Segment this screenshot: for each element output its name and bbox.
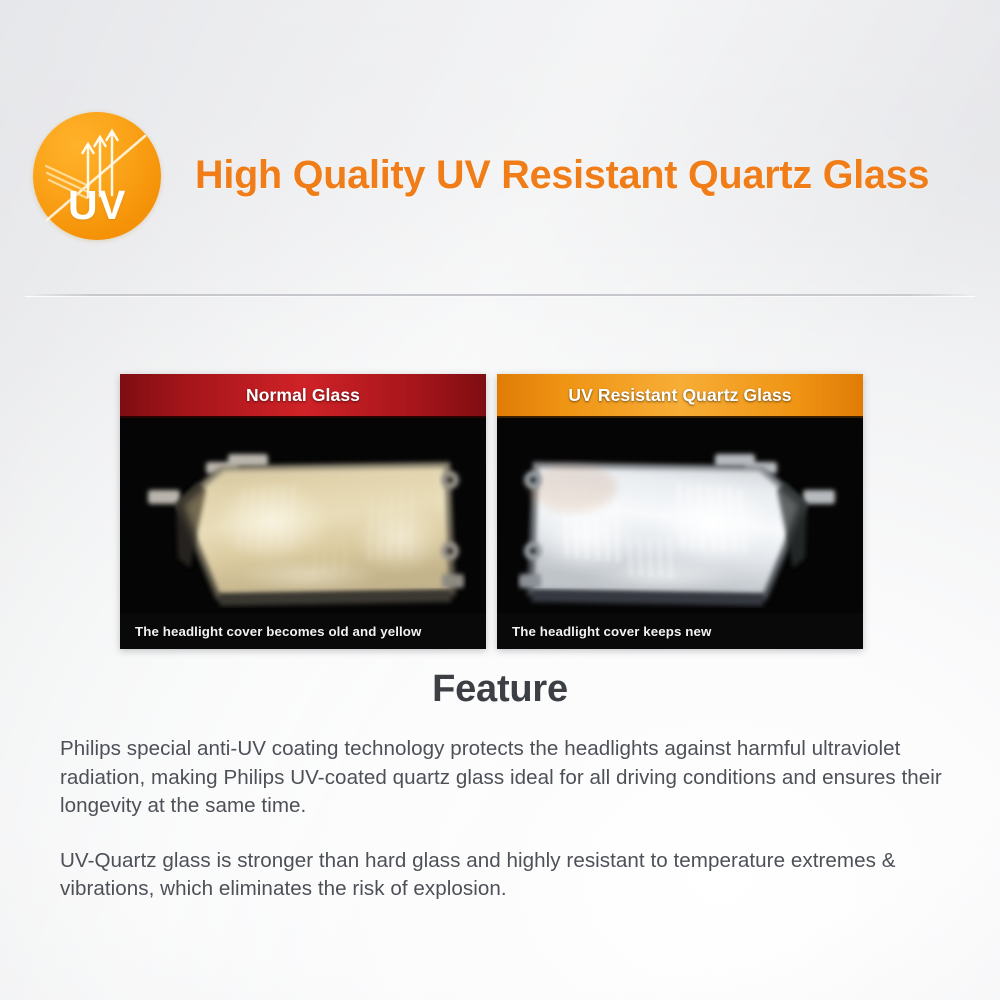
product-feature-page: UV High Quality UV Resistant Quartz Glas… [0,0,1000,1000]
page-title: High Quality UV Resistant Quartz Glass [195,153,929,198]
uv-badge-label: UV [33,185,161,226]
glass-comparison: Normal Glass [120,374,863,649]
caption-normal-glass: The headlight cover becomes old and yell… [120,613,486,649]
uv-shield-icon: UV [33,112,161,240]
comparison-panel-normal-glass: Normal Glass [120,374,486,649]
comparison-panel-uv-glass: UV Resistant Quartz Glass [497,374,863,649]
feature-paragraph-2: UV-Quartz glass is stronger than hard gl… [60,847,955,904]
panel-header-uv-glass: UV Resistant Quartz Glass [497,374,863,418]
caption-uv-glass: The headlight cover keeps new [497,613,863,649]
yellowed-headlight-photo [120,418,486,613]
panel-header-normal-glass: Normal Glass [120,374,486,418]
feature-heading: Feature [0,668,1000,711]
feature-body: Philips special anti-UV coating technolo… [60,735,955,904]
clear-headlight-photo [497,418,863,613]
header-divider [25,294,975,297]
page-header: UV High Quality UV Resistant Quartz Glas… [0,103,1000,248]
feature-paragraph-1: Philips special anti-UV coating technolo… [60,735,955,821]
